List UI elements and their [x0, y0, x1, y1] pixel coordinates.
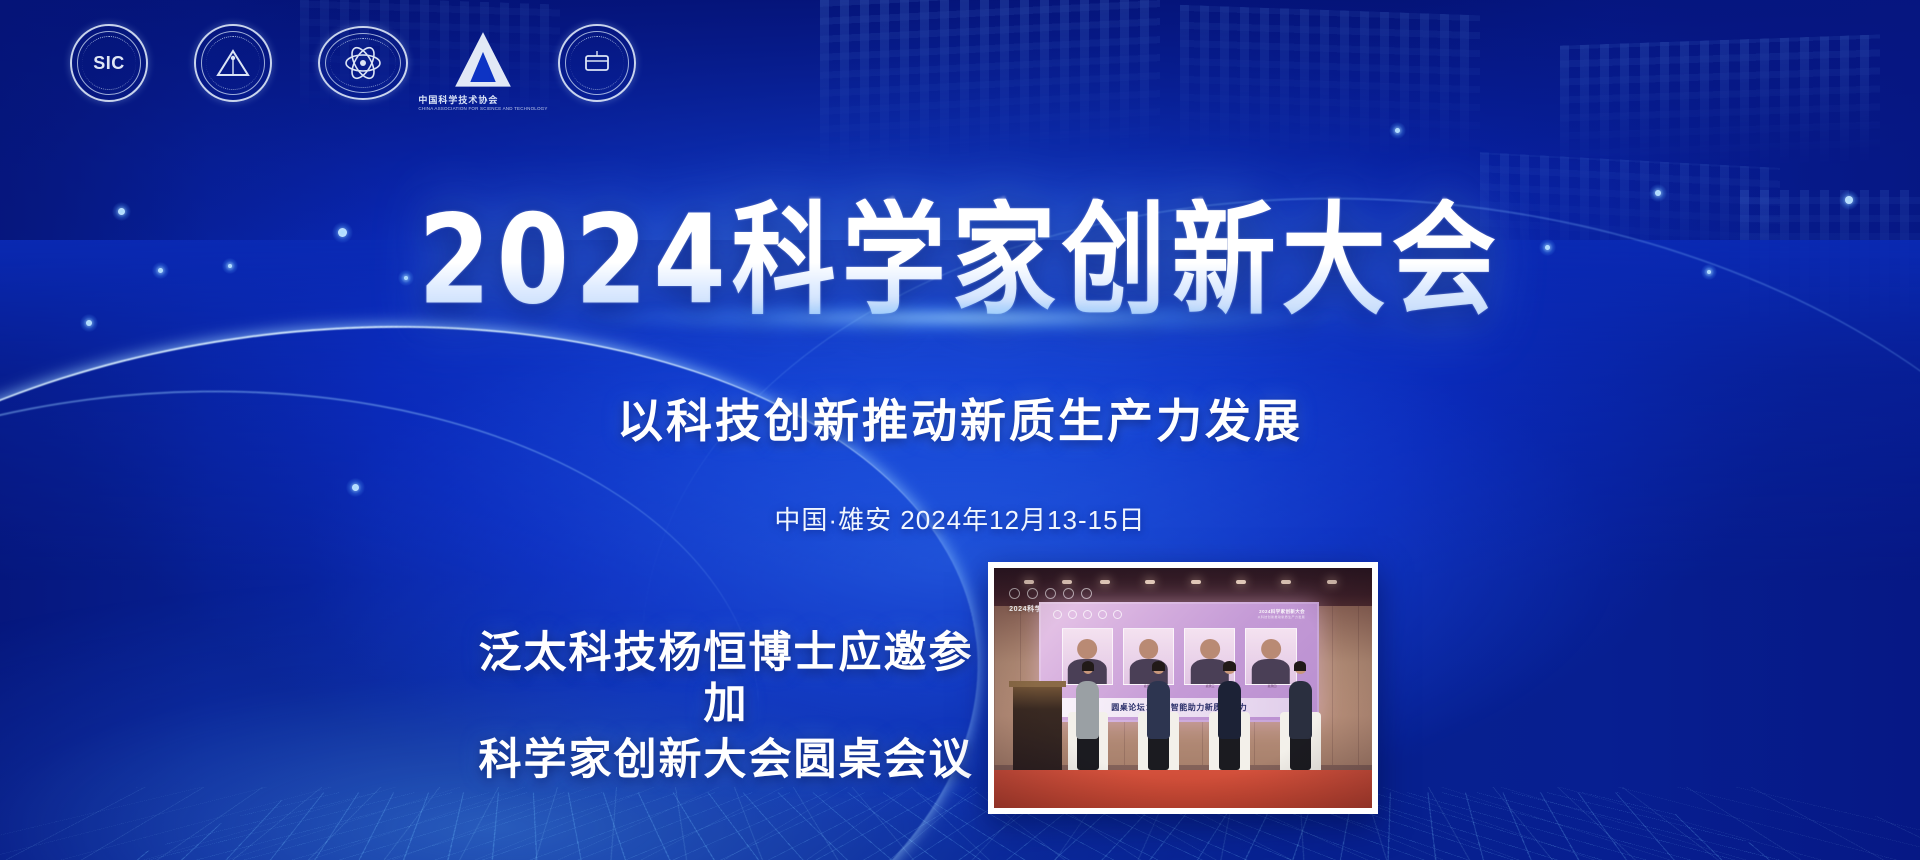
- sic-seal-logo: SIC: [70, 24, 148, 102]
- event-photo: 2024科学家创新大会 2024科学家创新大会 以科技创新推动新质生产力发展: [994, 568, 1372, 808]
- shield-icon: [579, 47, 615, 79]
- triangle-seal-logo: [194, 24, 272, 102]
- triangle-emblem-caption-sub: CHINA ASSOCIATION FOR SCIENCE AND TECHNO…: [418, 106, 547, 111]
- photo-vignette: [994, 568, 1372, 808]
- sparkle-decoration: [1655, 190, 1661, 196]
- sparkle-decoration: [1395, 128, 1400, 133]
- circular-badge-mark: [560, 26, 634, 100]
- sponsor-logo-row: SIC: [70, 24, 636, 102]
- atom-seal-mark: [320, 28, 406, 98]
- triangle-emblem-logo: 中国科学技术协会 CHINA ASSOCIATION FOR SCIENCE A…: [454, 31, 512, 89]
- triangle-emblem-caption-main: 中国科学技术协会: [418, 95, 498, 105]
- conference-poster: SIC: [0, 0, 1920, 860]
- event-photo-frame: 2024科学家创新大会 2024科学家创新大会 以科技创新推动新质生产力发展: [988, 562, 1378, 814]
- headline-glow-decoration: [580, 300, 1340, 336]
- event-subtitle: 以科技创新推动新质生产力发展: [0, 398, 1920, 444]
- sparkle-decoration: [352, 484, 359, 491]
- atom-icon: [342, 46, 384, 80]
- article-caption-line-1: 泛太科技杨恒博士应邀参加: [466, 628, 986, 729]
- circular-badge-logo: [558, 24, 636, 102]
- triangle-emblem-icon: [454, 31, 512, 89]
- triangle-emblem-caption: 中国科学技术协会 CHINA ASSOCIATION FOR SCIENCE A…: [418, 93, 547, 111]
- atom-seal-logo: [318, 26, 408, 100]
- triangle-seal-mark: [196, 26, 270, 100]
- digital-blocks-decoration: [1560, 34, 1880, 175]
- digital-blocks-decoration: [820, 0, 1160, 169]
- sic-seal-mark: SIC: [72, 26, 146, 100]
- article-caption: 泛太科技杨恒博士应邀参加 科学家创新大会圆桌会议: [466, 628, 986, 786]
- triangle-icon: [216, 48, 250, 78]
- event-dateline: 中国·雄安 2024年12月13-15日: [0, 500, 1920, 537]
- digital-blocks-decoration: [1180, 5, 1480, 165]
- article-caption-line-2: 科学家创新大会圆桌会议: [466, 735, 986, 786]
